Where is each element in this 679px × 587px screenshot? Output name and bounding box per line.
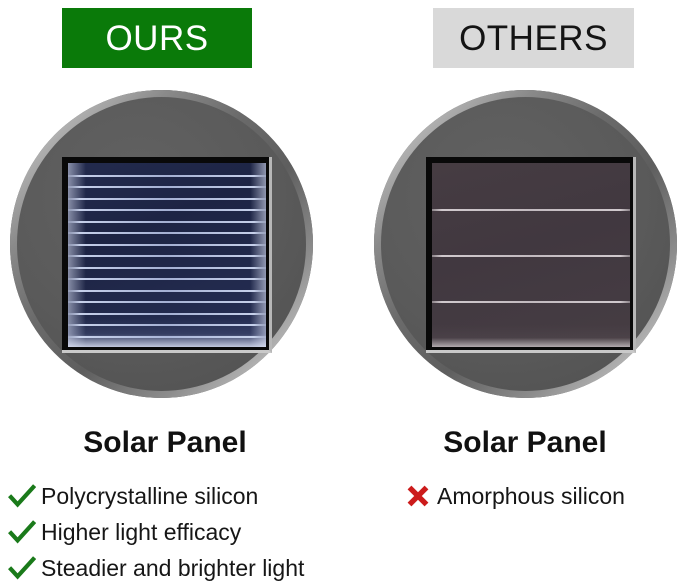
cell-gridline [68, 267, 266, 269]
cell-gridline [68, 336, 266, 338]
device-image-ours [10, 90, 313, 398]
cell-gridline [68, 232, 266, 234]
solar-panel-cells-others [432, 163, 630, 347]
check-icon [8, 518, 36, 546]
badge-others: OTHERS [433, 8, 634, 68]
device-image-others [374, 90, 677, 398]
cell-gridline [68, 255, 266, 257]
cell-gridline [68, 313, 266, 315]
cross-icon [404, 482, 432, 510]
feature-label: Steadier and brighter light [41, 555, 304, 582]
cell-gridline [68, 244, 266, 246]
device-face [381, 97, 670, 391]
feature-list-ours: Polycrystalline siliconHigher light effi… [8, 478, 348, 586]
device-face [17, 97, 306, 391]
cell-gridline [432, 209, 630, 211]
feature-list-others: Amorphous silicon [404, 478, 679, 514]
feature-label: Amorphous silicon [437, 483, 625, 510]
panel-caption-ours: Solar Panel [0, 428, 330, 458]
cell-gridline [68, 278, 266, 280]
cell-gridline [68, 290, 266, 292]
cell-gridline [68, 301, 266, 303]
badge-ours: OURS [62, 8, 252, 68]
comparison-infographic: OURS Solar Panel Polycrystalline silicon… [0, 0, 679, 587]
solar-panel-bezel-others [426, 157, 636, 353]
cell-gridline [68, 186, 266, 188]
check-icon [8, 482, 36, 510]
cell-gridline [432, 301, 630, 303]
feature-item: Polycrystalline silicon [8, 478, 348, 514]
feature-item: Steadier and brighter light [8, 550, 348, 586]
feature-item: Higher light efficacy [8, 514, 348, 550]
cell-gridline [432, 255, 630, 257]
cell-gridline [68, 198, 266, 200]
cell-gridline [68, 209, 266, 211]
panel-caption-others: Solar Panel [360, 428, 679, 458]
feature-item: Amorphous silicon [404, 478, 679, 514]
cell-gridline [68, 175, 266, 177]
solar-panel-cells-ours [68, 163, 266, 347]
solar-panel-bezel-ours [62, 157, 272, 353]
feature-label: Higher light efficacy [41, 519, 241, 546]
cell-gridline [68, 221, 266, 223]
cell-gridline [68, 324, 266, 326]
feature-label: Polycrystalline silicon [41, 483, 258, 510]
check-icon [8, 554, 36, 582]
